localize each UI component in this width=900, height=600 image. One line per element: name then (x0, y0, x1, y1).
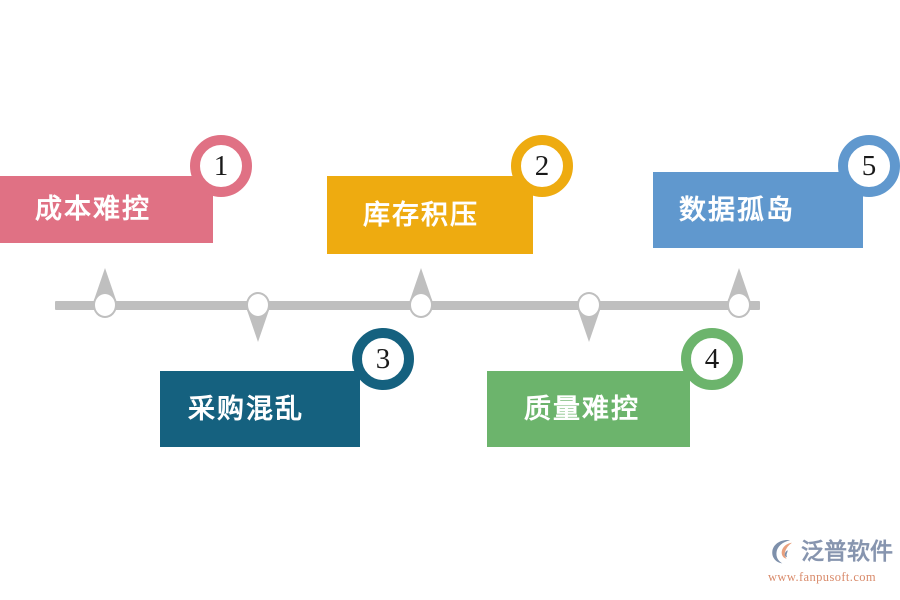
timeline-axis (55, 301, 760, 310)
timeline-node-5[interactable] (727, 292, 751, 318)
watermark-url-text: www.fanpusoft.com (768, 570, 896, 585)
item-label-4: 质量难控 (524, 396, 640, 423)
watermark: 泛普软件 www.fanpusoft.com (768, 535, 896, 590)
watermark-brand-text: 泛普软件 (801, 540, 893, 563)
item-badge-number-4: 4 (705, 345, 720, 374)
item-badge-2[interactable]: 2 (511, 135, 573, 197)
timeline-node-2[interactable] (246, 292, 270, 318)
item-badge-number-5: 5 (862, 152, 877, 181)
item-badge-number-1: 1 (214, 152, 229, 181)
item-label-2: 库存积压 (363, 202, 479, 229)
item-badge-3[interactable]: 3 (352, 328, 414, 390)
item-badge-number-3: 3 (376, 345, 391, 374)
item-badge-4[interactable]: 4 (681, 328, 743, 390)
timeline-node-3[interactable] (409, 292, 433, 318)
item-label-1: 成本难控 (35, 196, 151, 223)
watermark-brand-row: 泛普软件 (768, 535, 896, 567)
timeline-node-4[interactable] (577, 292, 601, 318)
item-badge-5[interactable]: 5 (838, 135, 900, 197)
item-badge-1[interactable]: 1 (190, 135, 252, 197)
fanpu-logo-icon (768, 536, 798, 566)
timeline-node-1[interactable] (93, 292, 117, 318)
infographic-canvas: 成本难控 1 库存积压 2 采购混乱 3 质量难控 4 数据孤岛 5 (0, 0, 900, 600)
item-box-5[interactable]: 数据孤岛 (653, 172, 863, 248)
item-box-4[interactable]: 质量难控 (487, 371, 690, 447)
item-label-5: 数据孤岛 (679, 197, 795, 224)
item-box-2[interactable]: 库存积压 (327, 176, 533, 254)
item-label-3: 采购混乱 (188, 396, 304, 423)
item-box-3[interactable]: 采购混乱 (160, 371, 360, 447)
item-badge-number-2: 2 (535, 152, 550, 181)
item-box-1[interactable]: 成本难控 (0, 176, 213, 243)
